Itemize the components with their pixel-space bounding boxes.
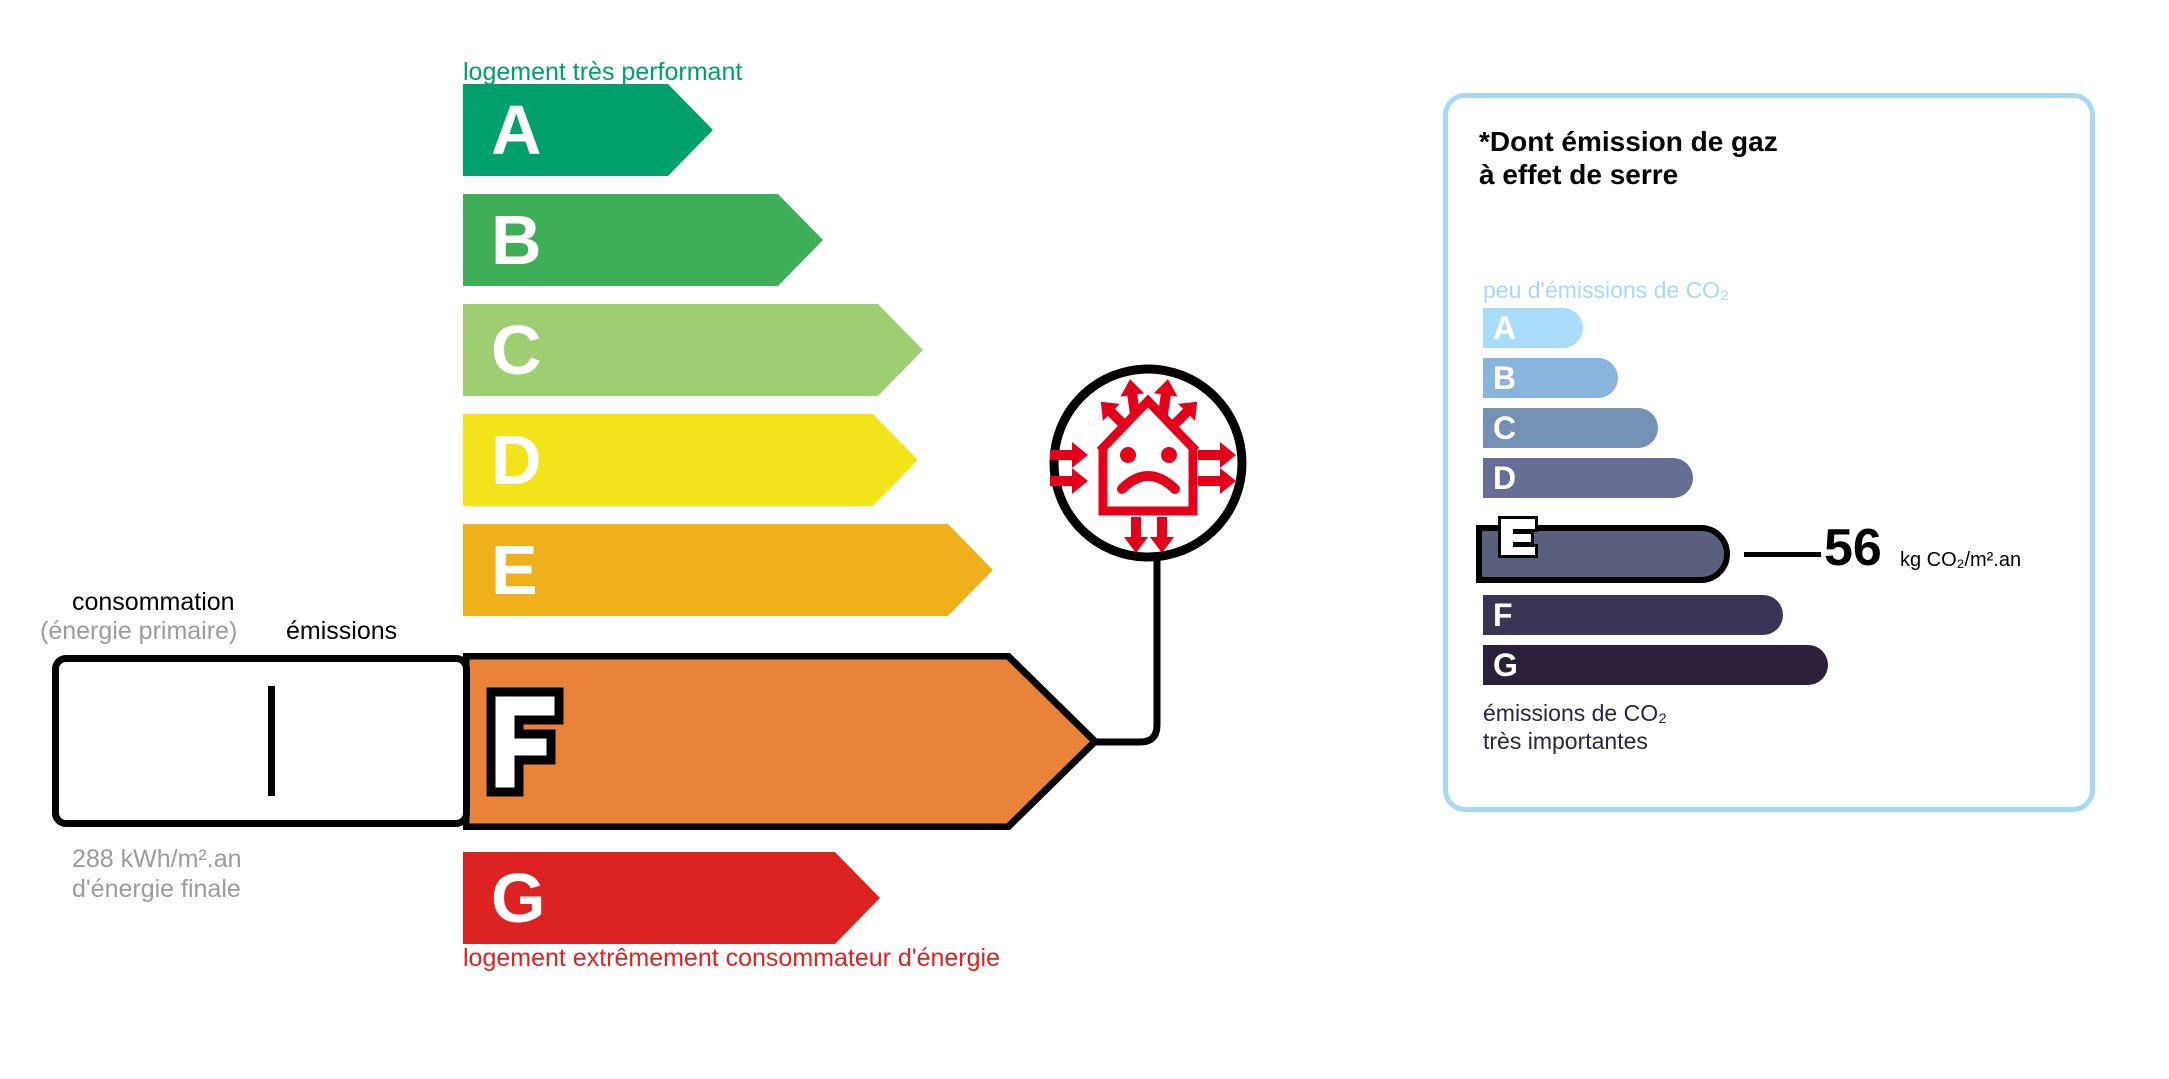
energy-bar-letter-a: A	[491, 95, 542, 165]
co2-bar-a[interactable]: A	[1483, 308, 1583, 348]
house-leaking-heat-sad-icon	[1048, 363, 1248, 563]
co2-bar-e-selected[interactable]	[1476, 525, 1730, 583]
energy-bar-letter-e: E	[491, 535, 538, 605]
final-energy-line1: 288 kWh/m².an	[72, 845, 242, 874]
energy-bar-d[interactable]: D	[463, 414, 918, 506]
co2-bar-g[interactable]: G	[1483, 645, 1828, 685]
co2-bar-b[interactable]: B	[1483, 358, 1618, 398]
bar-shape-e	[463, 524, 993, 616]
energy-bar-letter-b: B	[491, 205, 542, 275]
final-energy-line2: d'énergie finale	[72, 875, 241, 904]
co2-callout-unit: kg CO₂/m².an	[1900, 550, 2021, 570]
label-emissions: émissions	[286, 617, 397, 646]
co2-bar-f[interactable]: F	[1483, 595, 1783, 635]
energy-top-caption: logement très performant	[463, 58, 742, 87]
label-energie-primaire: (énergie primaire)	[40, 617, 237, 646]
badge-connector-line	[1090, 555, 1250, 755]
co2-bar-letter-b: B	[1493, 362, 1516, 394]
co2-bar-letter-a: A	[1493, 312, 1516, 344]
co2-bar-letter-e	[1496, 514, 1540, 560]
energy-bar-a[interactable]: A	[463, 84, 713, 176]
co2-bar-letter-c: C	[1493, 412, 1516, 444]
energy-bar-letter-d: D	[491, 425, 542, 495]
co2-top-caption: peu d'émissions de CO₂	[1483, 277, 1729, 304]
value-box-divider	[268, 686, 275, 796]
energy-bar-f-selected[interactable]	[463, 653, 1098, 830]
co2-bar-letter-d: D	[1493, 462, 1516, 494]
co2-bottom-caption: émissions de CO₂ très importantes	[1483, 700, 1667, 755]
energy-bar-letter-c: C	[491, 315, 542, 385]
energy-bottom-caption: logement extrêmement consommateur d'éner…	[463, 944, 1000, 973]
energy-bar-letter-g: G	[491, 863, 545, 933]
label-consommation: consommation	[72, 588, 235, 617]
energy-bar-letter-f	[485, 686, 565, 798]
co2-bar-d[interactable]: D	[1483, 458, 1693, 498]
co2-panel-title: *Dont émission de gaz à effet de serre	[1479, 125, 1778, 191]
energy-bar-b[interactable]: B	[463, 194, 823, 286]
energy-bar-c[interactable]: C	[463, 304, 923, 396]
value-box	[52, 655, 470, 827]
co2-callout-leader-line	[1744, 552, 1821, 557]
co2-bar-c[interactable]: C	[1483, 408, 1658, 448]
co2-bar-letter-g: G	[1493, 649, 1518, 681]
co2-bar-letter-f: F	[1493, 599, 1513, 631]
co2-callout-value: 56	[1824, 522, 1882, 574]
energy-bar-g[interactable]: G	[463, 852, 880, 944]
energy-bar-e[interactable]: E	[463, 524, 993, 616]
